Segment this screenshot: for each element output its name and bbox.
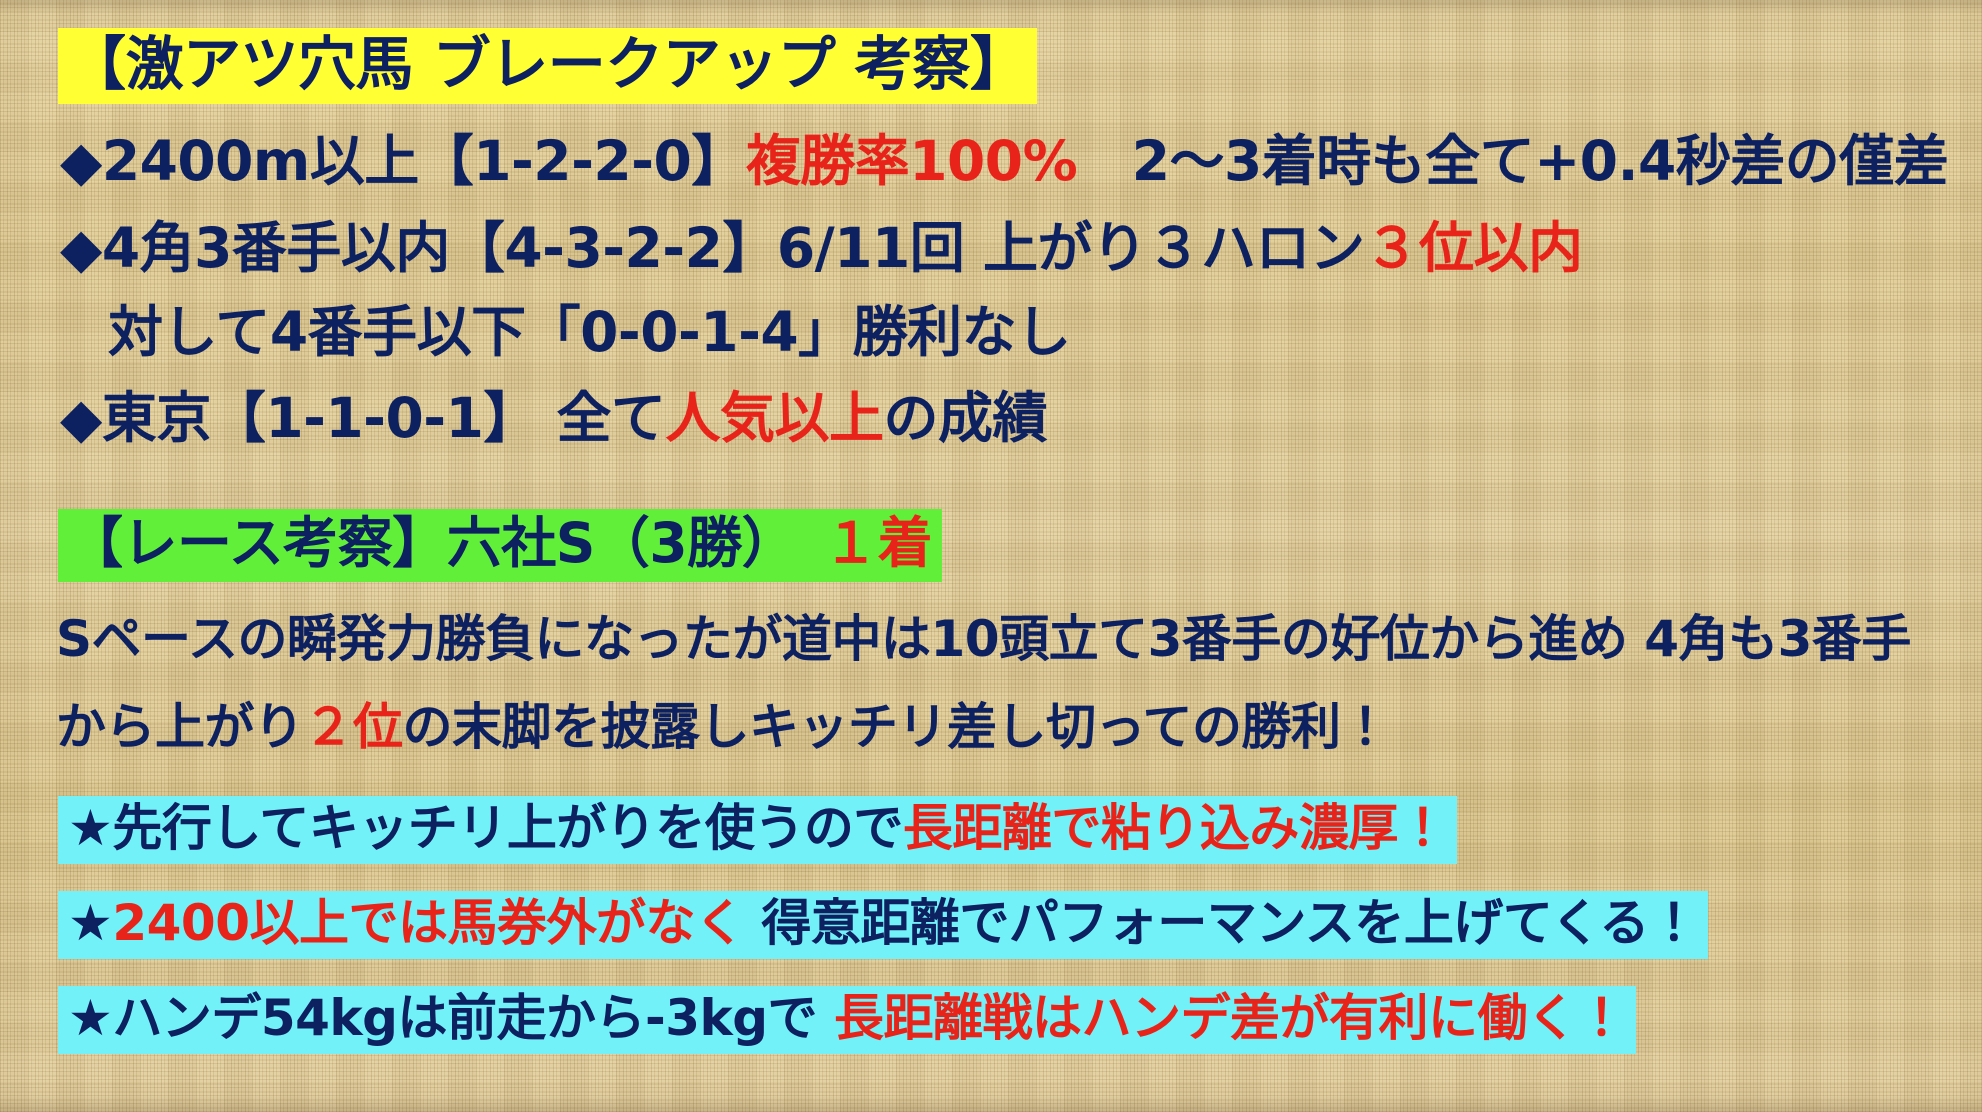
- stat-line-3: 対して4番手以下「0-0-1-4」勝利なし: [108, 305, 1071, 360]
- conclusion-2-seg-1: ★: [68, 894, 112, 952]
- body-2-seg-2: ２位: [304, 698, 403, 756]
- stat-4-seg-3: の成績: [884, 386, 1048, 450]
- conclusion-3: ★ハンデ54kgは前走から-3kgで 長距離戦はハンデ差が有利に働く！: [58, 986, 1636, 1054]
- stat-line-4: ◆東京【1-1-0-1】 全て人気以上の成績: [60, 391, 1047, 446]
- conclusion-2-seg-2: 2400以上では馬券外がなく: [112, 894, 744, 952]
- stat-4-bullet: ◆: [60, 386, 102, 450]
- stat-line-2: ◆4角3番手以内【4-3-2-2】6/11回 上がり３ハロン３位以内: [60, 221, 1582, 276]
- race-review-heading-row: 【レース考察】六社S（3勝） １着: [58, 509, 942, 582]
- title-row: 【激アツ穴馬 ブレークアップ 考察】: [58, 28, 1037, 104]
- conclusion-1-seg-1: ★先行してキッチリ上がりを使うので: [68, 799, 903, 857]
- slide-canvas: 【激アツ穴馬 ブレークアップ 考察】 ◆2400m以上【1-2-2-0】複勝率1…: [0, 0, 1982, 1112]
- conclusion-3-seg-2: 長距離戦はハンデ差が有利に働く！: [817, 989, 1626, 1047]
- stat-line-1: ◆2400m以上【1-2-2-0】複勝率100% 2〜3着時も全て+0.4秒差の…: [60, 134, 1948, 189]
- conclusion-1: ★先行してキッチリ上がりを使うので長距離で粘り込み濃厚！: [58, 796, 1457, 864]
- body-2-seg-1: から上がり: [56, 698, 304, 756]
- conclusion-row-3: ★ハンデ54kgは前走から-3kgで 長距離戦はハンデ差が有利に働く！: [58, 986, 1636, 1054]
- stat-2-bullet: ◆: [60, 216, 102, 280]
- stat-1-seg-2: 複勝率100%: [746, 129, 1077, 193]
- stat-1-seg-3: 2〜3着時も全て+0.4秒差の僅差: [1077, 129, 1948, 193]
- stat-4-seg-2: 人気以上: [666, 386, 884, 450]
- race-review-heading-seg-2: １着: [769, 511, 933, 575]
- conclusion-1-seg-2: 長距離で粘り込み濃厚！: [903, 799, 1448, 857]
- stat-2-seg-2: ３位以内: [1364, 216, 1582, 280]
- stat-4-seg-1: 東京【1-1-0-1】 全て: [102, 386, 666, 450]
- page-title: 【激アツ穴馬 ブレークアップ 考察】: [58, 28, 1037, 104]
- conclusion-2-seg-3: 得意距離でパフォーマンスを上げてくる！: [745, 894, 1699, 952]
- conclusion-3-seg-1: ★ハンデ54kgは前走から-3kgで: [68, 989, 817, 1047]
- conclusion-2: ★2400以上では馬券外がなく 得意距離でパフォーマンスを上げてくる！: [58, 891, 1708, 959]
- stat-1-seg-1: 2400m以上【1-2-2-0】: [102, 129, 746, 193]
- race-review-heading-seg-1: 【レース考察】六社S（3勝）: [68, 511, 769, 575]
- race-review-heading: 【レース考察】六社S（3勝） １着: [58, 509, 942, 582]
- conclusion-row-2: ★2400以上では馬券外がなく 得意距離でパフォーマンスを上げてくる！: [58, 891, 1708, 959]
- stat-1-bullet: ◆: [60, 129, 102, 193]
- stat-2-seg-1: 4角3番手以内【4-3-2-2】6/11回 上がり３ハロン: [102, 216, 1365, 280]
- body-2-seg-3: の末脚を披露しキッチリ差し切っての勝利！: [403, 698, 1391, 756]
- body-1-seg-1: Sペースの瞬発力勝負になったが道中は10頭立て3番手の好位から進め 4角も3番手: [56, 610, 1911, 668]
- conclusion-row-1: ★先行してキッチリ上がりを使うので長距離で粘り込み濃厚！: [58, 796, 1457, 864]
- race-review-body-line-2: から上がり２位の末脚を披露しキッチリ差し切っての勝利！: [56, 702, 1390, 752]
- race-review-body-line-1: Sペースの瞬発力勝負になったが道中は10頭立て3番手の好位から進め 4角も3番手: [56, 614, 1911, 664]
- stat-3-seg-1: 対して4番手以下「0-0-1-4」勝利なし: [108, 300, 1071, 364]
